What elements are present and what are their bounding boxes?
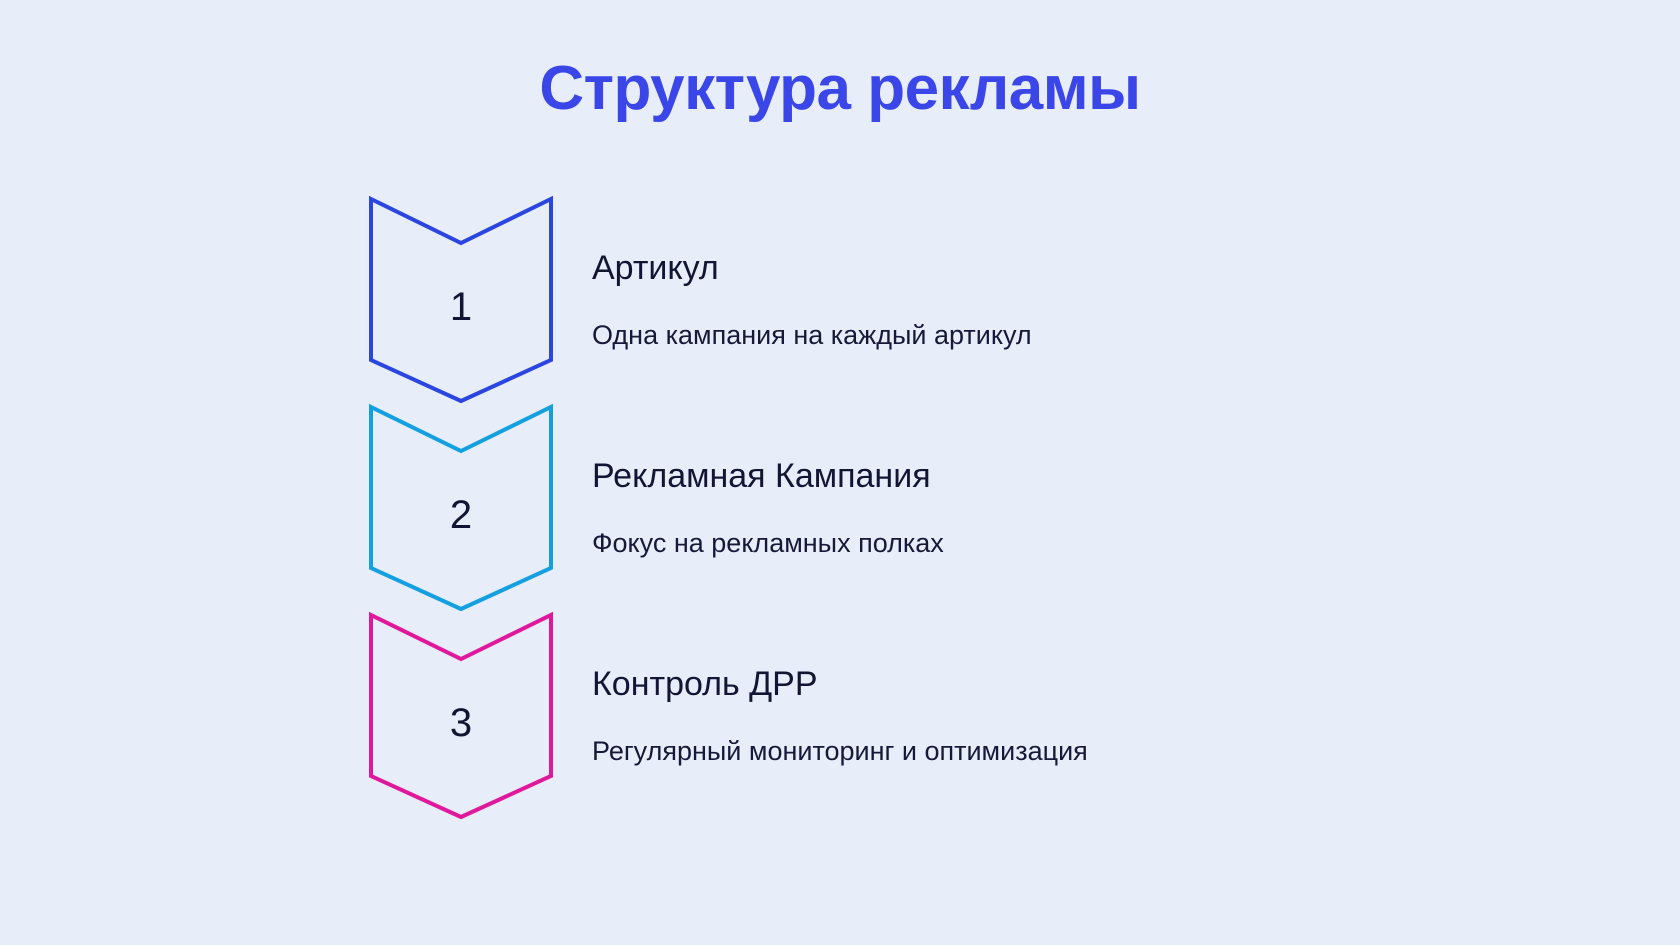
step-heading: Рекламная Кампания — [592, 456, 1442, 497]
chevron-shape-2 — [371, 407, 551, 609]
steps-list: 1 Артикул Одна кампания на каждый артику… — [368, 196, 1468, 820]
step-text-block: Рекламная Кампания Фокус на рекламных по… — [592, 404, 1442, 612]
chevron-shape-3 — [371, 615, 551, 817]
chevron-banner-icon — [368, 404, 554, 612]
step-text-block: Артикул Одна кампания на каждый артикул — [592, 196, 1442, 404]
step-text-block: Контроль ДРР Регулярный мониторинг и опт… — [592, 612, 1442, 820]
chevron-banner-icon — [368, 612, 554, 820]
chevron-shape-1 — [371, 199, 551, 401]
step-description: Одна кампания на каждый артикул — [592, 319, 1442, 351]
slide-canvas: Структура рекламы 1 Артикул Одна кампани… — [0, 0, 1680, 945]
page-title: Структура рекламы — [0, 55, 1680, 123]
step-description: Регулярный мониторинг и оптимизация — [592, 735, 1442, 767]
list-item[interactable]: 2 Рекламная Кампания Фокус на рекламных … — [368, 404, 1468, 612]
chevron-banner-icon — [368, 196, 554, 404]
step-heading: Артикул — [592, 248, 1442, 289]
step-description: Фокус на рекламных полках — [592, 527, 1442, 559]
list-item[interactable]: 1 Артикул Одна кампания на каждый артику… — [368, 196, 1468, 404]
list-item[interactable]: 3 Контроль ДРР Регулярный мониторинг и о… — [368, 612, 1468, 820]
step-heading: Контроль ДРР — [592, 664, 1442, 705]
